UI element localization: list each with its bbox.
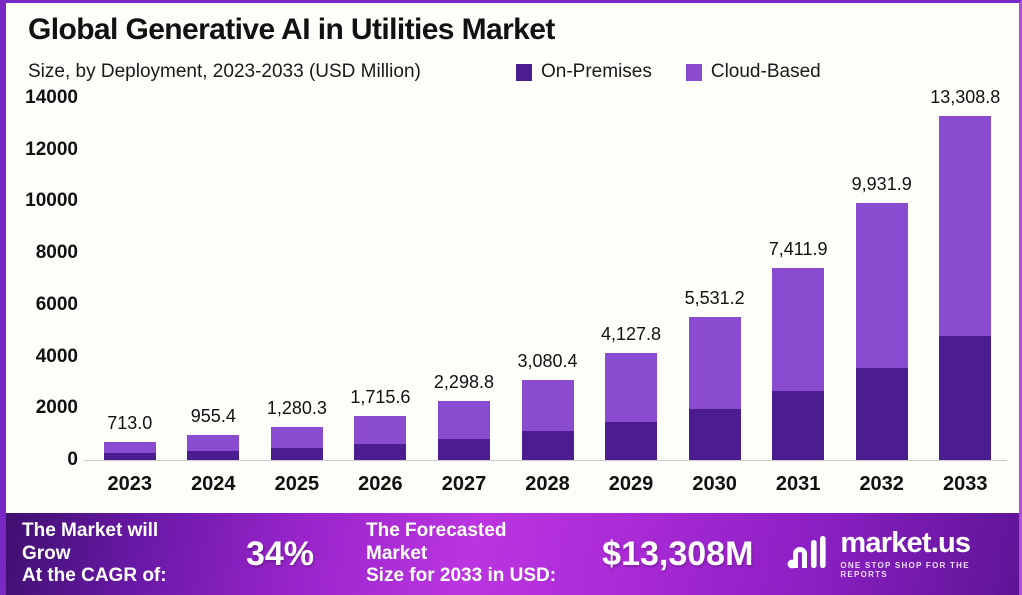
bar-segment-cloud-based[interactable] xyxy=(354,416,406,444)
bar-segment-cloud-based[interactable] xyxy=(187,435,239,451)
bar-column[interactable]: 4,127.8 xyxy=(589,98,673,460)
bar-segment-cloud-based[interactable] xyxy=(271,427,323,448)
bar-value-label: 955.4 xyxy=(191,406,236,427)
bar-segment-cloud-based[interactable] xyxy=(605,353,657,421)
bar-column[interactable]: 1,715.6 xyxy=(339,98,423,460)
bar-value-label: 5,531.2 xyxy=(685,288,745,309)
bar-segment-on-premises[interactable] xyxy=(354,444,406,460)
x-axis-tick: 2026 xyxy=(339,473,423,496)
forecast-label-line1: The Forecasted Market xyxy=(366,520,570,565)
x-axis-tick: 2027 xyxy=(422,473,506,496)
x-axis-tick: 2030 xyxy=(673,473,757,496)
bar-stack[interactable] xyxy=(354,416,406,460)
logo-name: market.us xyxy=(840,529,1019,558)
bar-segment-on-premises[interactable] xyxy=(772,391,824,460)
bar-segment-on-premises[interactable] xyxy=(939,336,991,460)
x-axis: 2023202420252026202720282029203020312032… xyxy=(88,466,1007,502)
bar-segment-cloud-based[interactable] xyxy=(522,380,574,431)
footer-banner: The Market will Grow At the CAGR of: 34%… xyxy=(6,513,1019,595)
brand-logo[interactable]: market.us ONE STOP SHOP FOR THE REPORTS xyxy=(787,529,1019,579)
bar-value-label: 13,308.8 xyxy=(930,87,1000,108)
x-axis-tick: 2023 xyxy=(88,473,172,496)
bar-segment-cloud-based[interactable] xyxy=(939,116,991,336)
cagr-block: The Market will Grow At the CAGR of: 34% xyxy=(6,520,314,587)
legend-label-cloud-based: Cloud-Based xyxy=(711,61,821,83)
y-axis-tick: 8000 xyxy=(36,242,78,264)
cagr-label-line1: The Market will Grow xyxy=(22,520,210,565)
legend-swatch-cloud-based xyxy=(686,64,702,81)
bar-segment-on-premises[interactable] xyxy=(605,422,657,460)
y-axis-tick: 6000 xyxy=(36,294,78,316)
y-axis-tick: 0 xyxy=(67,449,78,471)
bar-value-label: 7,411.9 xyxy=(769,239,828,260)
bar-segment-on-premises[interactable] xyxy=(187,451,239,460)
bar-column[interactable]: 5,531.2 xyxy=(673,98,757,460)
bar-column[interactable]: 3,080.4 xyxy=(506,98,590,460)
bar-value-label: 3,080.4 xyxy=(517,351,577,372)
x-axis-tick: 2031 xyxy=(756,473,840,496)
legend-item-on-premises[interactable]: On-Premises xyxy=(516,61,652,83)
y-axis-tick: 2000 xyxy=(36,397,78,419)
bar-value-label: 1,715.6 xyxy=(350,387,410,408)
legend-swatch-on-premises xyxy=(516,64,532,81)
bar-stack[interactable] xyxy=(939,116,991,460)
chart-legend: On-Premises Cloud-Based xyxy=(516,61,821,83)
bar-segment-on-premises[interactable] xyxy=(522,431,574,460)
y-axis-tick: 10000 xyxy=(25,190,78,212)
bar-stack[interactable] xyxy=(187,435,239,460)
y-axis-tick: 14000 xyxy=(25,87,78,109)
bar-stack[interactable] xyxy=(605,353,657,460)
logo-words: market.us ONE STOP SHOP FOR THE REPORTS xyxy=(840,529,1019,579)
bar-stack[interactable] xyxy=(689,317,741,460)
cagr-label: The Market will Grow At the CAGR of: xyxy=(22,520,210,587)
y-axis-tick: 12000 xyxy=(25,139,78,161)
bar-segment-cloud-based[interactable] xyxy=(104,442,156,454)
bar-segment-cloud-based[interactable] xyxy=(856,203,908,367)
bar-value-label: 1,280.3 xyxy=(267,398,327,419)
bar-stack[interactable] xyxy=(772,268,824,460)
forecast-block: The Forecasted Market Size for 2033 in U… xyxy=(366,520,753,587)
bar-value-label: 9,931.9 xyxy=(852,174,912,195)
bar-column[interactable]: 7,411.9 xyxy=(756,98,840,460)
market-us-bars-icon xyxy=(787,534,831,575)
y-axis-tick: 4000 xyxy=(36,346,78,368)
chart-infographic: Global Generative AI in Utilities Market… xyxy=(0,0,1022,595)
bar-segment-on-premises[interactable] xyxy=(271,448,323,460)
bar-column[interactable]: 1,280.3 xyxy=(255,98,339,460)
x-axis-tick: 2024 xyxy=(172,473,256,496)
bar-column[interactable]: 955.4 xyxy=(172,98,256,460)
y-axis: 02000400060008000100001200014000 xyxy=(6,98,84,460)
forecast-label-line2: Size for 2033 in USD: xyxy=(366,565,570,587)
legend-item-cloud-based[interactable]: Cloud-Based xyxy=(686,61,821,83)
bar-column[interactable]: 713.0 xyxy=(88,98,172,460)
bar-segment-cloud-based[interactable] xyxy=(438,401,490,439)
bar-column[interactable]: 13,308.8 xyxy=(923,98,1007,460)
bar-segment-on-premises[interactable] xyxy=(856,368,908,460)
cagr-label-line2: At the CAGR of: xyxy=(22,565,210,587)
bar-segment-on-premises[interactable] xyxy=(689,409,741,460)
bar-stack[interactable] xyxy=(438,401,490,460)
chart-header: Global Generative AI in Utilities Market… xyxy=(6,3,1019,93)
x-axis-tick: 2033 xyxy=(923,473,1007,496)
bar-stack[interactable] xyxy=(522,380,574,460)
chart-subtitle: Size, by Deployment, 2023-2033 (USD Mill… xyxy=(28,61,421,83)
x-axis-tick: 2028 xyxy=(506,473,590,496)
bar-segment-cloud-based[interactable] xyxy=(689,317,741,409)
forecast-value: $13,308M xyxy=(602,535,753,574)
plot-area: 02000400060008000100001200014000 713.095… xyxy=(6,98,1019,513)
bar-column[interactable]: 9,931.9 xyxy=(840,98,924,460)
x-axis-baseline xyxy=(84,460,1007,461)
bar-segment-cloud-based[interactable] xyxy=(772,268,824,391)
bar-segment-on-premises[interactable] xyxy=(104,453,156,460)
x-axis-tick: 2025 xyxy=(255,473,339,496)
bar-value-label: 713.0 xyxy=(107,413,152,434)
bar-value-label: 2,298.8 xyxy=(434,372,494,393)
cagr-value: 34% xyxy=(246,535,314,574)
bar-segment-on-premises[interactable] xyxy=(438,439,490,460)
bars-region: 713.0955.41,280.31,715.62,298.83,080.44,… xyxy=(88,98,1007,460)
legend-label-on-premises: On-Premises xyxy=(541,61,652,83)
bar-stack[interactable] xyxy=(104,442,156,460)
bar-value-label: 4,127.8 xyxy=(601,324,661,345)
x-axis-tick: 2032 xyxy=(840,473,924,496)
logo-tagline: ONE STOP SHOP FOR THE REPORTS xyxy=(840,561,1019,579)
bar-stack[interactable] xyxy=(856,203,908,460)
bar-stack[interactable] xyxy=(271,427,323,460)
chart-title: Global Generative AI in Utilities Market xyxy=(28,13,555,47)
forecast-label: The Forecasted Market Size for 2033 in U… xyxy=(366,520,570,587)
x-axis-tick: 2029 xyxy=(589,473,673,496)
bar-column[interactable]: 2,298.8 xyxy=(422,98,506,460)
